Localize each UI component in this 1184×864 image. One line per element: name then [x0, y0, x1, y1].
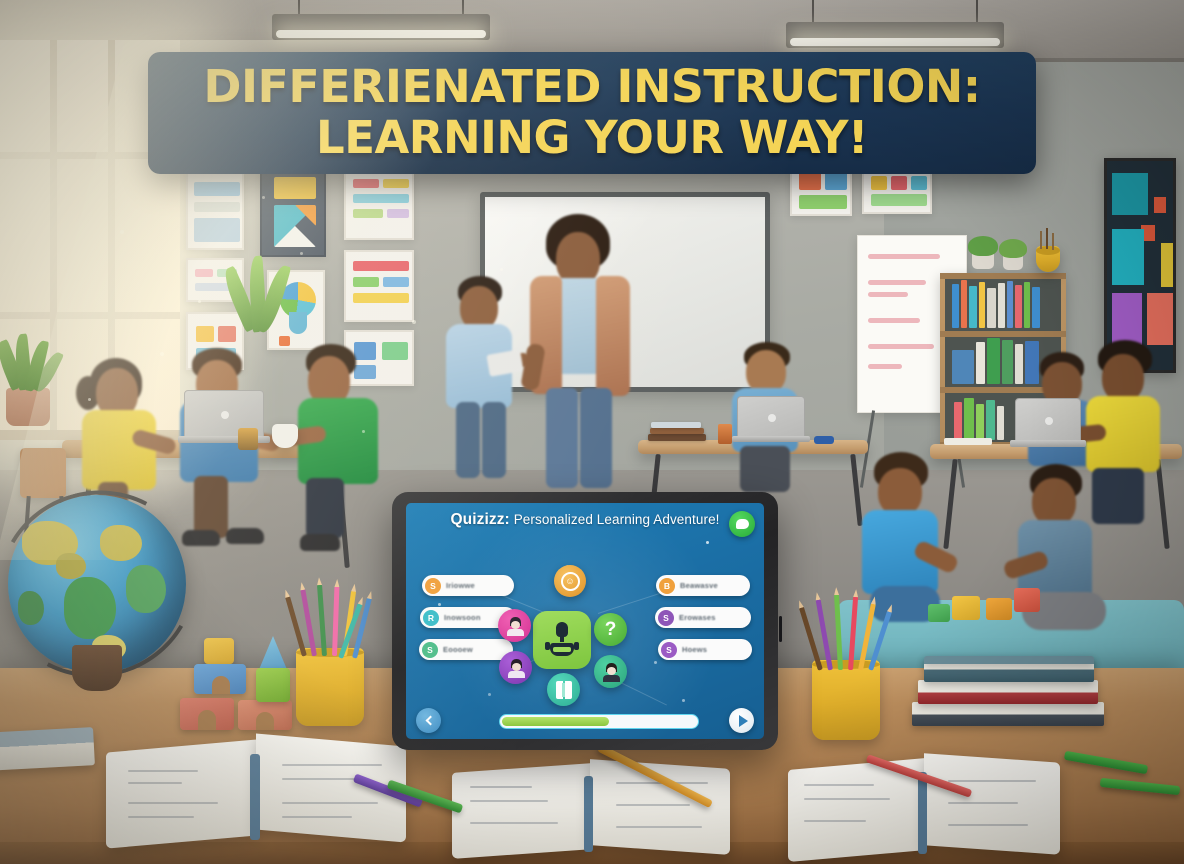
title-banner: DIFFERIENATED INSTRUCTION: LEARNING YOUR… — [148, 52, 1036, 174]
pill-avatar-icon: B — [659, 578, 675, 594]
desk-cup-center — [718, 424, 732, 444]
wall-poster-4 — [260, 165, 326, 257]
desk-cup-left — [238, 428, 258, 450]
arrow-right-icon — [739, 715, 748, 727]
option-pill-left-1[interactable]: S Iriowwe — [422, 575, 514, 596]
book-icon[interactable] — [547, 673, 580, 706]
tablet-app-title: Quizizz: Personalized Learning Adventure… — [406, 511, 764, 528]
paper-right-desk — [944, 438, 992, 445]
wooden-block-cube-yellow — [204, 638, 234, 664]
laptop-center[interactable] — [732, 396, 810, 446]
floor-block — [952, 596, 980, 620]
shelf-pencil — [1046, 228, 1048, 249]
student-boy-tablet — [440, 276, 530, 492]
arch-hole — [198, 710, 216, 730]
pencil-cup-right — [812, 660, 880, 740]
pill-label: Beawasve — [680, 581, 718, 590]
arch-hole — [212, 676, 230, 694]
option-pill-left-3[interactable]: S Eoooew — [419, 639, 513, 660]
student-floor-grey — [1010, 464, 1120, 646]
teacher — [520, 214, 642, 496]
forward-button[interactable] — [729, 708, 754, 733]
world-globe — [8, 495, 186, 673]
chat-badge-button[interactable] — [729, 511, 755, 537]
wall-poster-1 — [186, 172, 244, 250]
arch-hole — [256, 712, 274, 730]
pill-label: Inowsoon — [444, 613, 481, 622]
tablet-device[interactable]: Quizizz: Personalized Learning Adventure… — [392, 492, 778, 750]
back-button[interactable] — [416, 708, 441, 733]
option-pill-right-2[interactable]: S Erowases — [655, 607, 751, 628]
pill-label: Eoooew — [443, 645, 473, 654]
avatar-pink-icon[interactable] — [498, 609, 531, 642]
pill-label: Iriowwe — [446, 581, 475, 590]
classroom-scene: Quizizz: Personalized Learning Adventure… — [0, 0, 1184, 864]
tablet-app-subtitle: Personalized Learning Adventure! — [514, 512, 720, 527]
book-stack-center-desk — [648, 420, 706, 442]
idea-robot-icon[interactable] — [533, 611, 591, 669]
laptop-right[interactable] — [1010, 398, 1086, 450]
ceiling-light-1 — [272, 14, 490, 40]
floor-block — [986, 598, 1012, 620]
wall-poster-5 — [344, 168, 414, 240]
title-line-2: LEARNING YOUR WAY! — [316, 112, 868, 164]
eraser-center — [814, 436, 834, 444]
book-flat-left — [0, 727, 95, 771]
wall-poster-6 — [344, 250, 414, 322]
pill-label: Hoews — [682, 645, 707, 654]
floor-block — [928, 604, 950, 622]
tablet-port — [779, 616, 782, 642]
progress-bar[interactable] — [499, 714, 699, 729]
title-line-1: DIFFERIENATED INSTRUCTION: — [203, 62, 980, 112]
question-mark-icon[interactable]: ? — [594, 613, 627, 646]
pill-avatar-icon: S — [422, 642, 438, 658]
speech-bubble-icon — [736, 519, 749, 529]
tablet-screen[interactable]: Quizizz: Personalized Learning Adventure… — [406, 503, 764, 739]
notebook-center — [452, 764, 730, 862]
stacked-books — [912, 656, 1104, 728]
shelf-pencil — [1052, 233, 1054, 250]
pill-avatar-icon: S — [425, 578, 441, 594]
coin-badge-icon[interactable]: ☺ — [554, 565, 586, 597]
pill-avatar-icon: S — [658, 610, 674, 626]
chair-left — [20, 448, 66, 498]
shelf-pencil — [1040, 231, 1042, 249]
avatar-green-icon[interactable] — [594, 655, 627, 688]
student-boy-blue-shirt — [168, 348, 288, 568]
floor-block — [1014, 588, 1040, 612]
student-boy-green-shirt — [284, 344, 402, 574]
pencil-cup-left — [296, 648, 364, 726]
option-pill-right-3[interactable]: S Hoews — [658, 639, 752, 660]
pill-avatar-icon: S — [661, 642, 677, 658]
window-plant-pot — [6, 388, 50, 426]
notebook-left — [106, 740, 406, 850]
chevron-left-icon — [425, 716, 435, 726]
coffee-mug-left — [272, 424, 298, 448]
progress-bar-fill — [502, 717, 609, 726]
option-pill-right-1[interactable]: B Beawasve — [656, 575, 750, 596]
pill-avatar-icon: R — [423, 610, 439, 626]
ceiling-light-2 — [786, 22, 1004, 48]
shelf-plant-leaf-2 — [999, 239, 1027, 258]
wooden-block-cylinder-green — [256, 668, 290, 702]
shelf-plant-leaf-1 — [968, 236, 998, 256]
pill-label: Erowases — [679, 613, 716, 622]
tablet-app-name: Quizizz: — [450, 511, 509, 528]
avatar-purple-icon[interactable] — [499, 651, 532, 684]
shelf-pencil-cup — [1036, 246, 1060, 272]
